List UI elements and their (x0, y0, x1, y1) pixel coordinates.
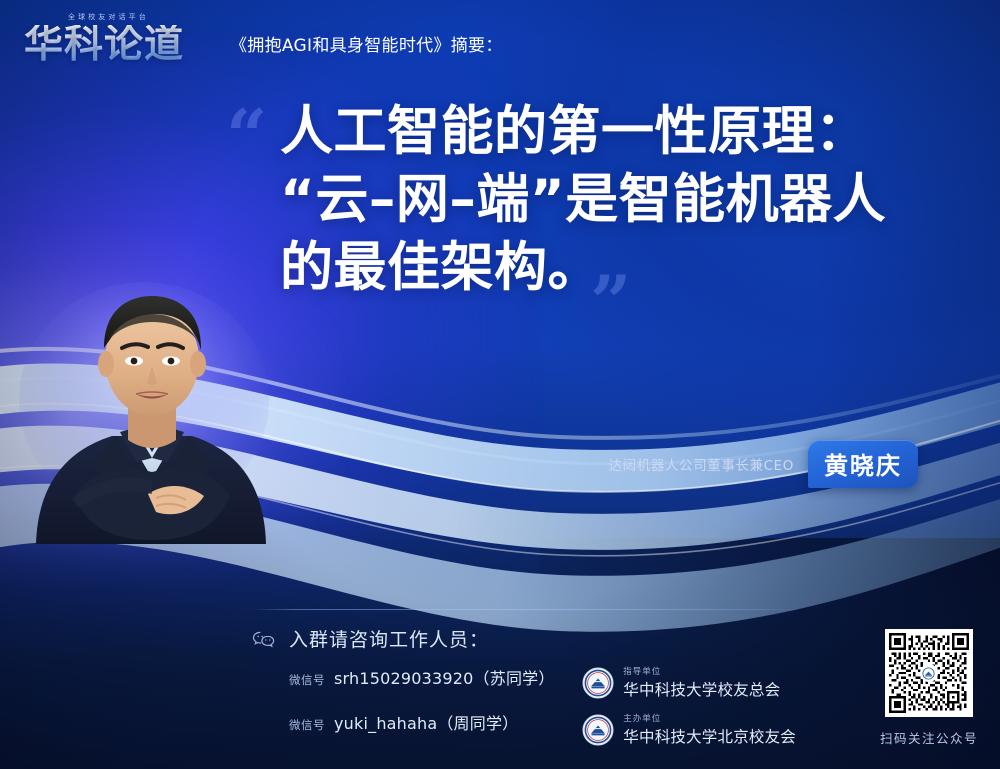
qr-caption: 扫码关注公众号 (880, 728, 978, 747)
speaker-role: 达闼机器人公司董事长兼CEO (609, 454, 794, 474)
speaker-attribution: 达闼机器人公司董事长兼CEO 黄晓庆 (609, 440, 918, 488)
speaker-name: 黄晓庆 (824, 446, 902, 481)
qr-code[interactable] (885, 629, 973, 717)
organization-name: 华中科技大学校友总会 (623, 678, 780, 700)
page-title: 《拥抱AGI和具身智能时代》摘要： (230, 31, 503, 64)
logo-wordmark: 华科论道 (24, 25, 216, 64)
brand-logo[interactable]: 全球校友对话平台 华科论道 (24, 14, 216, 64)
university-seal-icon (582, 714, 614, 746)
wechat-label: 微信号 (289, 672, 325, 688)
wechat-contact-list: 微信号 srh15029033920（苏同学） 微信号 yuki_hahaha（… (252, 665, 555, 734)
qr-section: 扫码关注公众号 (880, 629, 978, 747)
footer-divider (252, 609, 800, 610)
logo-tagline: 全球校友对话平台 (68, 12, 149, 22)
quote-line: 的最佳架构。 (280, 234, 942, 302)
organization-name: 华中科技大学北京校友会 (623, 725, 796, 747)
footer-body: 微信号 srh15029033920（苏同学） 微信号 yuki_hahaha（… (252, 665, 800, 747)
footer-heading-row: 入群请咨询工作人员： (252, 625, 800, 652)
organization-text: 主办单位 华中科技大学北京校友会 (623, 712, 796, 747)
organization-text: 指导单位 华中科技大学校友总会 (623, 665, 780, 700)
list-item: 主办单位 华中科技大学北京校友会 (582, 712, 796, 747)
speaker-name-badge: 黄晓庆 (808, 440, 918, 488)
quote-block: “ ” 人工智能的第一性原理： “云–网–端”是智能机器人 的最佳架构。 (222, 98, 942, 301)
header: 全球校友对话平台 华科论道 《拥抱AGI和具身智能时代》摘要： (24, 14, 503, 64)
qr-center-logo (920, 664, 938, 682)
footer-heading: 入群请咨询工作人员： (289, 625, 489, 652)
footer: 入群请咨询工作人员： 微信号 srh15029033920（苏同学） 微信号 y… (252, 609, 800, 747)
organization-kind: 主办单位 (623, 712, 796, 724)
wechat-icon (252, 630, 276, 648)
poster-root: 全球校友对话平台 华科论道 《拥抱AGI和具身智能时代》摘要： “ ” 人工智能… (0, 0, 1000, 769)
quote-line: 人工智能的第一性原理： (280, 98, 942, 166)
wechat-label: 微信号 (289, 717, 325, 733)
quote-lines: 人工智能的第一性原理： “云–网–端”是智能机器人 的最佳架构。 (222, 98, 942, 301)
list-item: 微信号 srh15029033920（苏同学） (289, 665, 555, 689)
list-item: 微信号 yuki_hahaha（周同学） (289, 710, 555, 734)
list-item: 指导单位 华中科技大学校友总会 (582, 665, 796, 700)
organization-list: 指导单位 华中科技大学校友总会 (582, 665, 800, 747)
speaker-portrait (16, 282, 286, 582)
wechat-id[interactable]: srh15029033920（苏同学） (334, 665, 555, 689)
organization-kind: 指导单位 (623, 665, 780, 677)
wechat-id[interactable]: yuki_hahaha（周同学） (334, 710, 518, 734)
university-seal-icon (582, 667, 614, 699)
quote-line: “云–网–端”是智能机器人 (280, 166, 942, 234)
